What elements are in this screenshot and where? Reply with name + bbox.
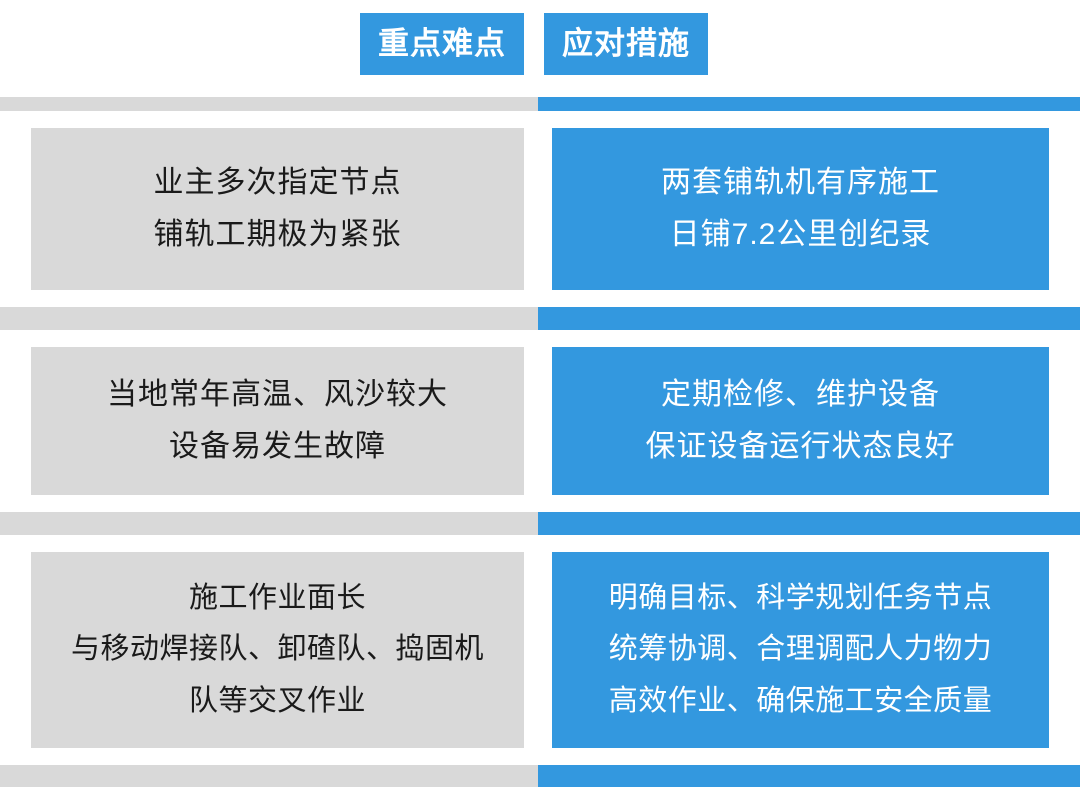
difficulty-line: 当地常年高温、风沙较大 — [107, 369, 448, 421]
comparison-infographic: 重点难点 应对措施 业主多次指定节点 铺轨工期极为紧张 两套铺轨机有序施工 日铺… — [0, 0, 1080, 787]
difficulty-line: 队等交叉作业 — [189, 676, 366, 728]
measure-line: 两套铺轨机有序施工 — [661, 157, 940, 209]
difficulty-cell-1-inner: 业主多次指定节点 铺轨工期极为紧张 — [31, 128, 524, 290]
difficulty-line: 业主多次指定节点 — [154, 157, 402, 209]
measure-line: 保证设备运行状态良好 — [646, 421, 956, 473]
difficulty-line: 与移动焊接队、卸碴队、捣固机 — [71, 624, 484, 676]
comparison-rows: 业主多次指定节点 铺轨工期极为紧张 两套铺轨机有序施工 日铺7.2公里创纪录 当… — [0, 97, 1080, 787]
measure-cell-3: 明确目标、科学规划任务节点 统筹协调、合理调配人力物力 高效作业、确保施工安全质… — [538, 542, 1080, 758]
column-header-tabs: 重点难点 应对措施 — [360, 13, 708, 75]
measure-line: 明确目标、科学规划任务节点 — [609, 573, 993, 625]
measure-cell-1-inner: 两套铺轨机有序施工 日铺7.2公里创纪录 — [552, 128, 1049, 290]
measure-cell-2: 定期检修、维护设备 保证设备运行状态良好 — [538, 337, 1080, 505]
difficulty-line: 设备易发生故障 — [169, 421, 386, 473]
difficulty-cell-1: 业主多次指定节点 铺轨工期极为紧张 — [0, 118, 538, 300]
measure-cell-2-inner: 定期检修、维护设备 保证设备运行状态良好 — [552, 347, 1049, 495]
difficulty-cell-3: 施工作业面长 与移动焊接队、卸碴队、捣固机 队等交叉作业 — [0, 542, 538, 758]
difficulty-cell-2-inner: 当地常年高温、风沙较大 设备易发生故障 — [31, 347, 524, 495]
difficulty-cell-3-inner: 施工作业面长 与移动焊接队、卸碴队、捣固机 队等交叉作业 — [31, 552, 524, 748]
difficulty-cell-2: 当地常年高温、风沙较大 设备易发生故障 — [0, 337, 538, 505]
table-row: 施工作业面长 与移动焊接队、卸碴队、捣固机 队等交叉作业 明确目标、科学规划任务… — [0, 535, 1080, 765]
table-row: 当地常年高温、风沙较大 设备易发生故障 定期检修、维护设备 保证设备运行状态良好 — [0, 330, 1080, 512]
tab-countermeasures[interactable]: 应对措施 — [544, 13, 708, 75]
measure-line: 高效作业、确保施工安全质量 — [609, 676, 993, 728]
measure-line: 统筹协调、合理调配人力物力 — [609, 624, 993, 676]
difficulty-line: 铺轨工期极为紧张 — [154, 209, 402, 261]
measure-cell-1: 两套铺轨机有序施工 日铺7.2公里创纪录 — [538, 118, 1080, 300]
table-row: 业主多次指定节点 铺轨工期极为紧张 两套铺轨机有序施工 日铺7.2公里创纪录 — [0, 111, 1080, 307]
measure-line: 日铺7.2公里创纪录 — [670, 209, 932, 261]
measure-line: 定期检修、维护设备 — [661, 369, 940, 421]
tab-key-difficulties[interactable]: 重点难点 — [360, 13, 524, 75]
measure-cell-3-inner: 明确目标、科学规划任务节点 统筹协调、合理调配人力物力 高效作业、确保施工安全质… — [552, 552, 1049, 748]
difficulty-line: 施工作业面长 — [189, 573, 366, 625]
